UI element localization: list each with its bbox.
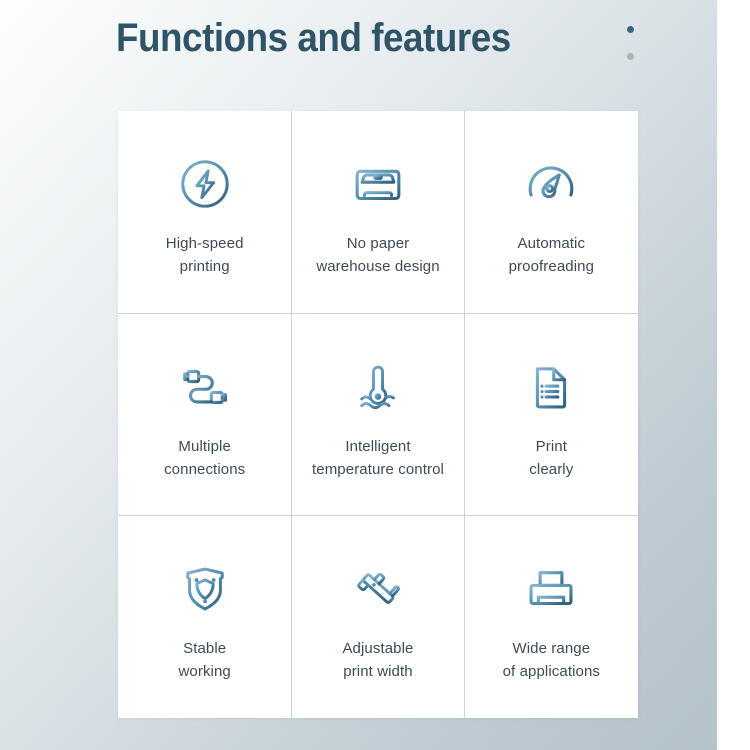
printer-tray-icon: [347, 153, 409, 215]
feature-label-line2: connections: [164, 461, 245, 478]
feature-cell-stable-working[interactable]: Stable working: [118, 516, 291, 718]
feature-cell-adjustable-print-width[interactable]: Adjustable print width: [291, 516, 464, 718]
feature-label: Adjustable print width: [342, 637, 413, 683]
feature-label-line2: warehouse design: [316, 258, 439, 275]
gauge-meter-icon: [520, 153, 582, 215]
feature-cell-high-speed-printing[interactable]: High-speed printing: [118, 111, 291, 313]
feature-label-line1: No paper: [347, 235, 410, 252]
cable-connector-icon: [174, 356, 236, 418]
shield-triangle-icon: [174, 558, 236, 620]
feature-cell-multiple-connections[interactable]: Multiple connections: [118, 313, 291, 515]
more-vertical-icon[interactable]: [623, 26, 637, 60]
feature-grid: High-speed printing No paper warehouse d…: [118, 111, 638, 718]
right-edge-strip: [717, 0, 750, 750]
lightning-bolt-circle-icon: [174, 153, 236, 215]
page-header: Functions and features: [0, 0, 717, 100]
feature-label: High-speed printing: [166, 232, 244, 278]
feature-label-line1: Automatic: [518, 235, 586, 252]
feature-cell-intelligent-temperature-control[interactable]: Intelligent temperature control: [291, 313, 464, 515]
feature-label-line2: clearly: [529, 461, 573, 478]
feature-label-line2: of applications: [503, 663, 600, 680]
feature-label-line2: working: [178, 663, 230, 680]
feature-label-line1: Stable: [183, 640, 226, 657]
menu-dot-top: [627, 26, 634, 33]
feature-label: No paper warehouse design: [316, 232, 439, 278]
page-root: Functions and features: [0, 0, 750, 750]
thermometer-waves-icon: [347, 356, 409, 418]
feature-cell-no-paper-warehouse-design[interactable]: No paper warehouse design: [291, 111, 464, 313]
feature-label-line2: printing: [180, 258, 230, 275]
feature-label-line2: proofreading: [509, 258, 594, 275]
feature-label-line1: Print: [536, 438, 567, 455]
feature-label-line2: print width: [343, 663, 412, 680]
feature-label: Automatic proofreading: [509, 232, 594, 278]
document-lines-icon: [520, 356, 582, 418]
feature-label-line1: Adjustable: [342, 640, 413, 657]
feature-cell-print-clearly[interactable]: Print clearly: [465, 313, 638, 515]
feature-label-line1: High-speed: [166, 235, 244, 252]
feature-label: Multiple connections: [164, 435, 245, 481]
feature-label: Print clearly: [529, 435, 573, 481]
menu-dot-bottom: [627, 53, 634, 60]
feature-cell-automatic-proofreading[interactable]: Automatic proofreading: [465, 111, 638, 313]
printer-output-icon: [520, 558, 582, 620]
feature-label-line1: Wide range: [512, 640, 590, 657]
feature-label: Intelligent temperature control: [312, 435, 444, 481]
caliper-icon: [347, 558, 409, 620]
page-title: Functions and features: [116, 14, 511, 62]
feature-label: Stable working: [178, 637, 230, 683]
feature-cell-wide-range-of-applications[interactable]: Wide range of applications: [465, 516, 638, 718]
feature-label-line1: Intelligent: [345, 438, 410, 455]
feature-label: Wide range of applications: [503, 637, 600, 683]
feature-label-line1: Multiple: [178, 438, 231, 455]
feature-label-line2: temperature control: [312, 461, 444, 478]
